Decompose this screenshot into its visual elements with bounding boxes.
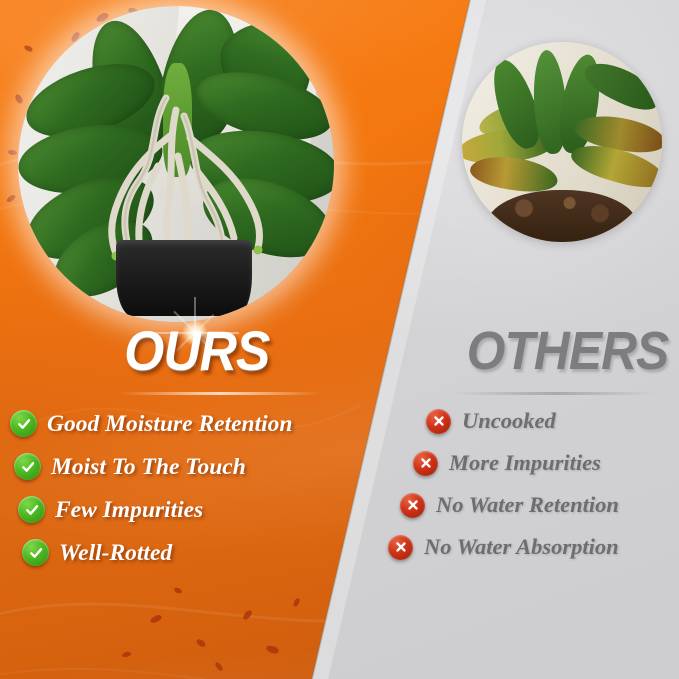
list-item: No Water Retention [400, 492, 673, 518]
cross-circle-icon [388, 535, 413, 560]
ours-title-underline [120, 392, 320, 395]
cross-circle-icon [426, 409, 451, 434]
bark-flake [242, 609, 254, 621]
feature-label: No Water Retention [436, 492, 619, 518]
feature-label: Well-Rotted [59, 540, 172, 566]
others-title: OTHERS [467, 322, 669, 380]
comparison-infographic: OURS OTHERS Good Moisture Retention Mois… [0, 0, 679, 679]
list-item: Few Impurities [18, 496, 382, 523]
feature-label: Few Impurities [55, 497, 203, 523]
list-item: Well-Rotted [22, 539, 382, 566]
bark-flake [173, 586, 182, 594]
bark-flake [149, 614, 162, 624]
bark-flake [122, 651, 132, 658]
black-plant-pot [116, 240, 252, 316]
check-circle-icon [22, 539, 49, 566]
ours-feature-list: Good Moisture Retention Moist To The Tou… [10, 410, 382, 576]
cross-circle-icon [413, 451, 438, 476]
feature-label: Good Moisture Retention [47, 411, 292, 437]
ours-title: OURS [124, 322, 269, 380]
list-item: Uncooked [426, 408, 673, 434]
check-circle-icon [10, 410, 37, 437]
feature-label: More Impurities [449, 450, 601, 476]
others-feature-list: Uncooked More Impurities No Water Retent… [388, 408, 673, 570]
bark-flake [265, 644, 280, 655]
list-item: No Water Absorption [388, 534, 673, 560]
check-circle-icon [14, 453, 41, 480]
bark-flake [292, 597, 301, 607]
others-title-underline [452, 392, 658, 395]
bark-flake [5, 194, 16, 204]
list-item: More Impurities [413, 450, 673, 476]
list-item: Good Moisture Retention [10, 410, 382, 437]
cross-circle-icon [400, 493, 425, 518]
feature-label: Moist To The Touch [51, 454, 246, 480]
bark-flake [195, 638, 207, 649]
ours-product-photo [18, 6, 334, 322]
bark-flake [8, 149, 18, 156]
bark-flake [214, 661, 224, 672]
list-item: Moist To The Touch [14, 453, 382, 480]
check-circle-icon [18, 496, 45, 523]
feature-label: No Water Absorption [424, 534, 619, 560]
others-product-photo [462, 42, 662, 242]
feature-label: Uncooked [462, 408, 556, 434]
